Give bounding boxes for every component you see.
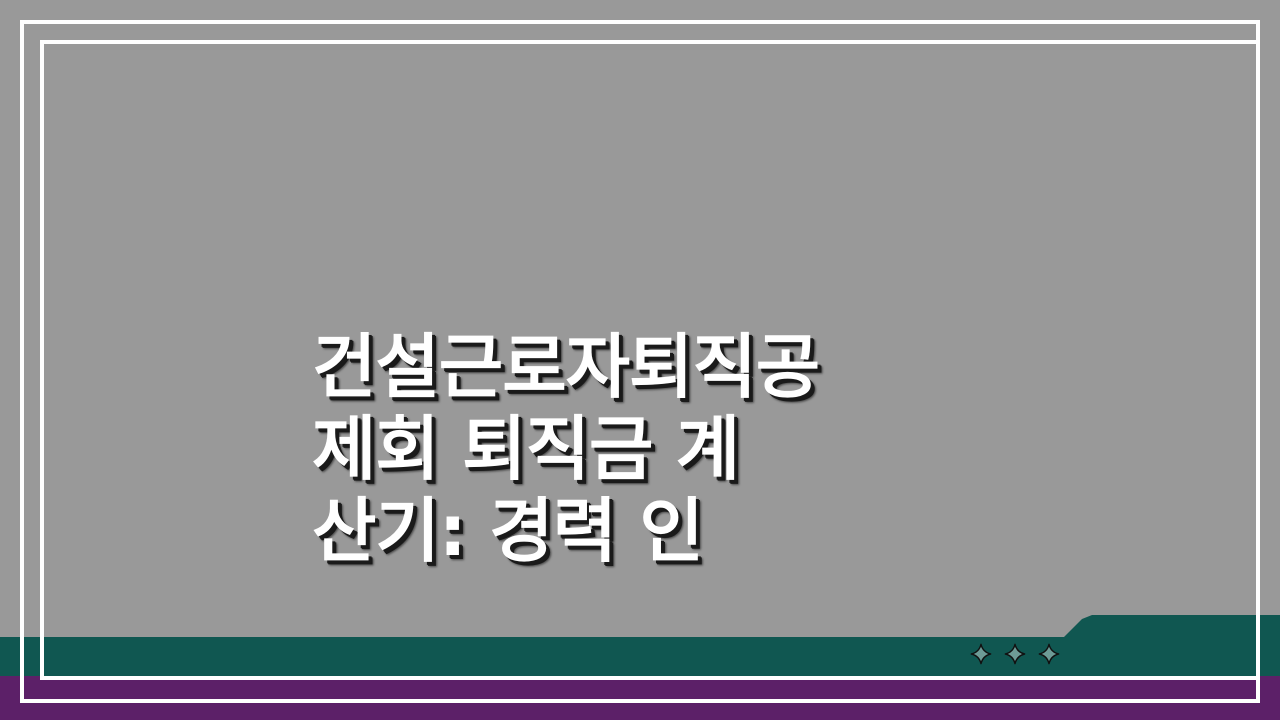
- sparkle-group: [970, 643, 1060, 665]
- poster-canvas: 건설근로자퇴직공 제회 퇴직금 계 산기: 경력 인: [0, 0, 1280, 720]
- teal-band: [0, 615, 1280, 676]
- sparkle-diamond-icon-1: [970, 643, 992, 665]
- sparkle-diamond-icon-3: [1038, 643, 1060, 665]
- title-line-1: 건설근로자퇴직공: [312, 326, 1012, 408]
- sparkle-diamond-icon-2: [1004, 643, 1026, 665]
- inner-white-border-right: [1256, 40, 1260, 700]
- title-line-2: 제회 퇴직금 계: [312, 408, 1012, 490]
- page-title: 건설근로자퇴직공 제회 퇴직금 계 산기: 경력 인: [312, 326, 1012, 572]
- title-line-3: 산기: 경력 인: [312, 490, 1012, 572]
